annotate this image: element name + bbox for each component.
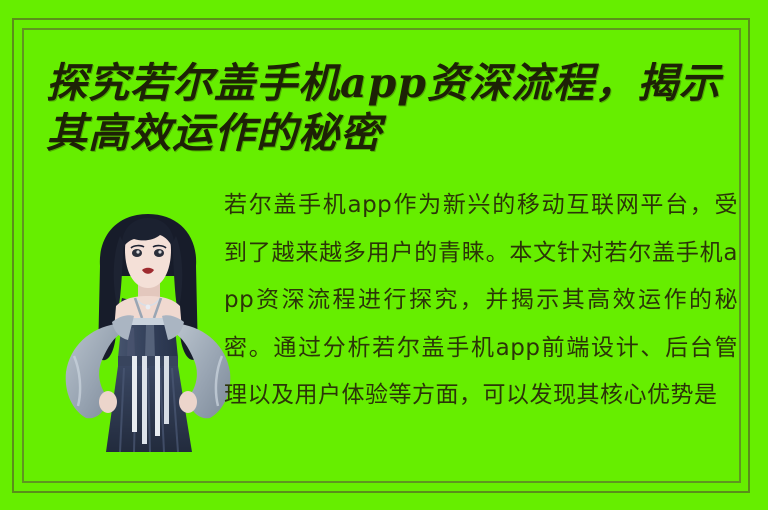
poster-canvas: 探究若尔盖手机app资深流程，揭示其高效运作的秘密 [0,0,768,510]
page-title: 探究若尔盖手机app资深流程，揭示其高效运作的秘密 [46,58,746,158]
article-body-text: 若尔盖手机app作为新兴的移动互联网平台，受到了越来越多用户的青睐。本文针对若尔… [224,182,738,420]
anime-woman-hanfu-illustration [62,206,234,452]
